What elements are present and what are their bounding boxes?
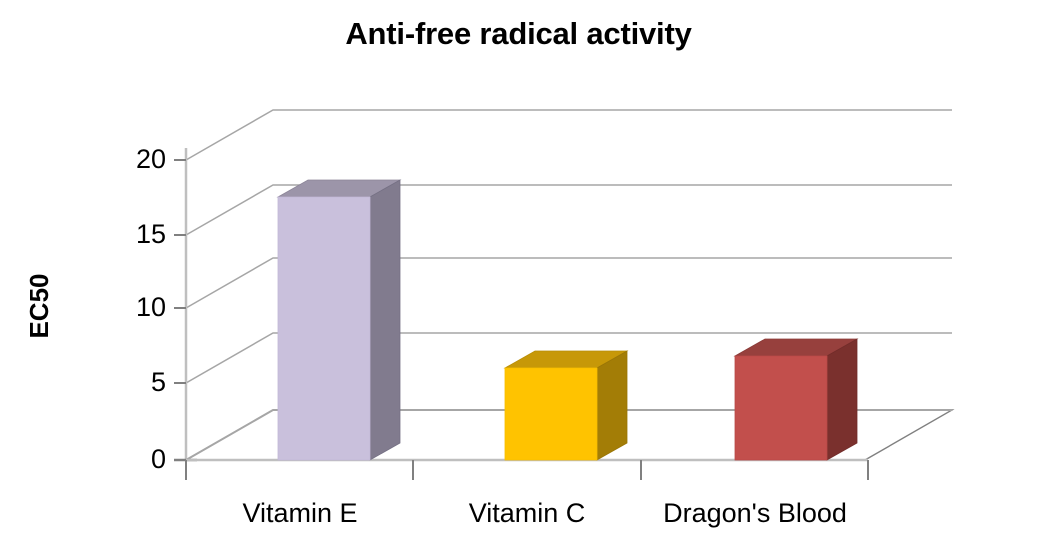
y-tick-label-20: 20 bbox=[96, 146, 166, 173]
category-label-vitamin-e: Vitamin E bbox=[186, 500, 414, 527]
category-label-vitamin-c: Vitamin C bbox=[413, 500, 641, 527]
bar-vitamin-c[interactable] bbox=[505, 351, 627, 460]
x-axis bbox=[186, 460, 868, 480]
y-tick-label-10: 10 bbox=[96, 294, 166, 321]
category-label-dragons-blood: Dragon's Blood bbox=[641, 500, 869, 527]
bar-vitamin-e[interactable] bbox=[278, 180, 400, 460]
bar-dragons-blood[interactable] bbox=[735, 339, 857, 460]
y-tick-label-5: 5 bbox=[96, 369, 166, 396]
y-tick-label-15: 15 bbox=[96, 221, 166, 248]
y-tick-label-0: 0 bbox=[96, 446, 166, 473]
chart-container: Anti-free radical activity EC50 bbox=[0, 0, 1037, 544]
